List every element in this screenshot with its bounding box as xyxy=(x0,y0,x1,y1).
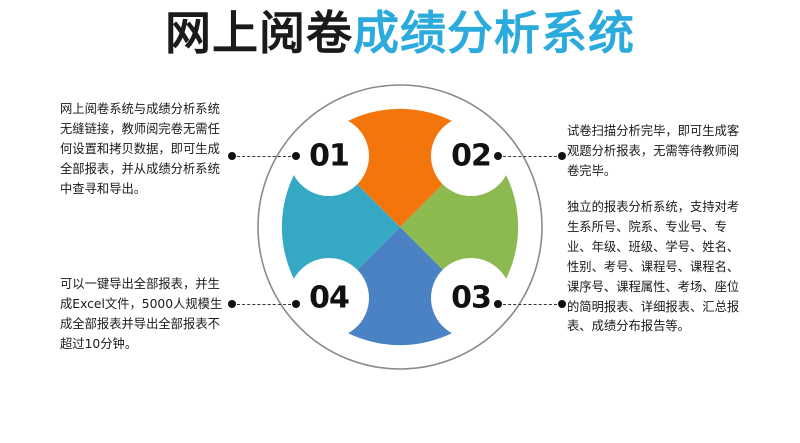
connector-04 xyxy=(228,299,300,309)
connector-dash-04 xyxy=(237,304,291,305)
badge-02[interactable]: 02 xyxy=(451,139,491,174)
connector-dot-outer-03 xyxy=(558,300,566,308)
callout-text-03: 独立的报表分析系统，支持对考生系所号、院系、专业号、专业、年级、班级、学号、姓名… xyxy=(567,198,745,337)
connector-02 xyxy=(494,151,566,161)
connector-dash-01 xyxy=(237,156,291,157)
connector-dash-03 xyxy=(503,304,557,305)
connector-03 xyxy=(494,299,566,309)
connector-01 xyxy=(228,151,300,161)
circle-diagram: 01 02 03 04 xyxy=(255,82,545,372)
connector-dot-inner-02 xyxy=(494,152,502,160)
page-title: 网上阅卷成绩分析系统 xyxy=(0,2,800,64)
callout-text-04: 可以一键导出全部报表，并生成Excel文件，5000人规模生成全部报表并导出全部… xyxy=(60,275,232,355)
connector-dot-inner-01 xyxy=(292,152,300,160)
callout-text-01: 网上阅卷系统与成绩分析系统无缝链接，教师阅完卷无需任何设置和拷贝数据，即可生成全… xyxy=(60,100,232,200)
infographic-page: 网上阅卷成绩分析系统 xyxy=(0,0,800,443)
connector-dot-inner-04 xyxy=(292,300,300,308)
connector-dot-inner-03 xyxy=(494,300,502,308)
badge-04[interactable]: 04 xyxy=(309,281,349,316)
badge-01[interactable]: 01 xyxy=(309,139,349,174)
badge-03[interactable]: 03 xyxy=(451,281,491,316)
callout-text-02: 试卷扫描分析完毕，即可生成客观题分析报表，无需等待教师阅卷完毕。 xyxy=(567,122,745,182)
connector-dot-outer-02 xyxy=(558,152,566,160)
connector-dash-02 xyxy=(503,156,557,157)
title-accent-text: 成绩分析系统 xyxy=(353,10,635,56)
title-main-text: 网上阅卷 xyxy=(165,10,353,56)
